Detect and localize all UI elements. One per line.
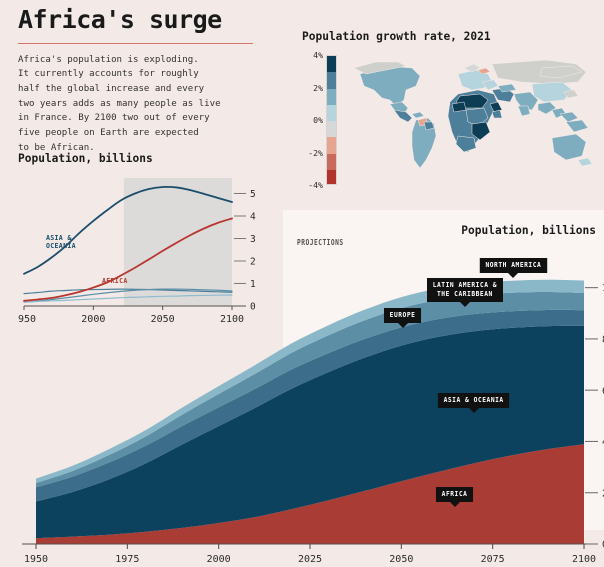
callout-asia-oceania: ASIA & OCEANIA — [436, 393, 511, 413]
callout-pointer-icon — [460, 302, 470, 307]
callout-pointer-icon — [469, 408, 479, 413]
callout-pointer-icon — [508, 273, 518, 278]
callout-pointer-icon — [398, 323, 408, 328]
x-tick-label: 1975 — [115, 554, 139, 565]
x-tick-label: 2050 — [389, 554, 413, 565]
callout-label: ASIA & OCEANIA — [438, 393, 510, 408]
callout-label: LATIN AMERICA & THE CARIBBEAN — [427, 278, 503, 302]
x-tick-label: 2100 — [572, 554, 596, 565]
area-chart-plot: 02468101950197520002025205020752100 — [0, 0, 604, 567]
callout-label: NORTH AMERICA — [480, 258, 547, 273]
callout-north-america: NORTH AMERICA — [478, 258, 549, 278]
callout-africa: AFRICA — [435, 487, 474, 507]
x-tick-label: 2025 — [298, 554, 322, 565]
callout-latin-america: LATIN AMERICA & THE CARIBBEAN — [425, 278, 505, 307]
callout-europe: EUROPE — [383, 308, 422, 328]
x-tick-label: 2000 — [207, 554, 231, 565]
callout-pointer-icon — [450, 502, 460, 507]
x-tick-label: 1950 — [24, 554, 48, 565]
x-tick-label: 2075 — [481, 554, 505, 565]
callout-label: EUROPE — [384, 308, 421, 323]
callout-label: AFRICA — [436, 487, 473, 502]
